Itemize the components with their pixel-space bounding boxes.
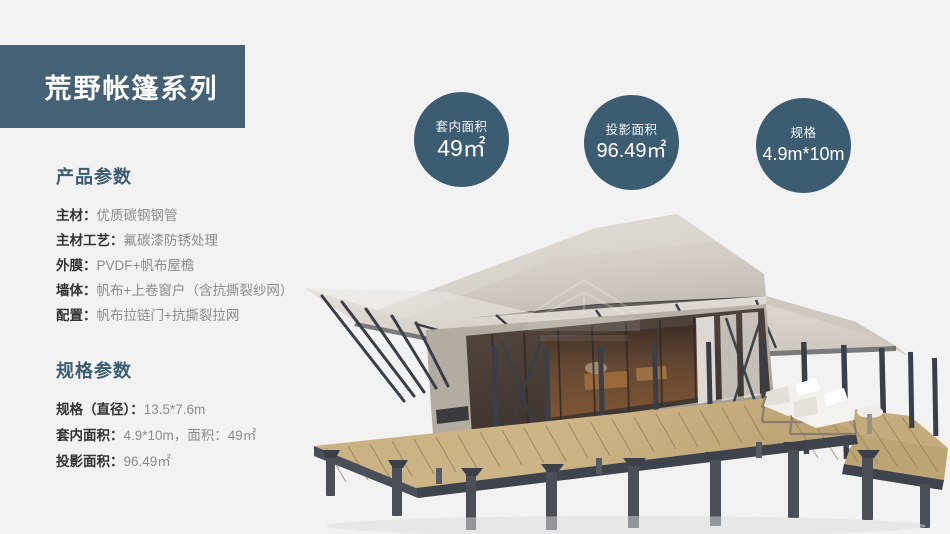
- product-parameters-heading: 产品参数: [56, 163, 356, 189]
- param-label: 墙体：: [56, 283, 97, 298]
- stat-value: 49㎡: [437, 136, 486, 160]
- spec-label: 套内面积：: [56, 428, 124, 443]
- page-title: 荒野帐篷系列: [45, 67, 219, 106]
- param-value: PVDF+帆布屋檐: [97, 258, 195, 273]
- param-value: 氟碳漆防锈处理: [124, 233, 219, 248]
- stat-value: 96.49㎡: [596, 139, 666, 163]
- slide-root: 荒野帐篷系列 产品参数 主材：优质碳钢钢管 主材工艺：氟碳漆防锈处理 外膜：PV…: [0, 0, 950, 534]
- spec-label: 投影面积：: [56, 454, 124, 469]
- spec-label: 规格（直径）：: [56, 402, 144, 417]
- title-banner: 荒野帐篷系列: [0, 45, 245, 128]
- spec-value: 4.9*10m，面积：49㎡: [124, 428, 257, 443]
- param-label: 配置：: [56, 308, 97, 323]
- stat-label: 规格: [790, 126, 816, 140]
- param-value: 优质碳钢钢管: [97, 208, 178, 223]
- param-value: 帆布拉链门+抗撕裂拉网: [97, 308, 240, 323]
- stat-value: 4.9m*10m: [762, 142, 844, 166]
- stat-badge-dimensions: 规格 4.9m*10m: [756, 98, 851, 193]
- spec-value: 13.5*7.6m: [144, 402, 206, 417]
- param-label: 主材：: [56, 208, 97, 223]
- param-label: 外膜：: [56, 258, 97, 273]
- param-value: 帆布+上卷窗户（含抗撕裂纱网）: [97, 283, 294, 298]
- stat-label: 套内面积: [435, 120, 487, 134]
- spec-value: 96.49㎡: [124, 454, 171, 469]
- stat-badge-interior-area: 套内面积 49㎡: [414, 92, 509, 187]
- param-label: 主材工艺：: [56, 233, 124, 248]
- stat-label: 投影面积: [605, 123, 657, 137]
- tent-product-photo: [296, 196, 950, 534]
- stat-badge-projected-area: 投影面积 96.49㎡: [584, 95, 679, 190]
